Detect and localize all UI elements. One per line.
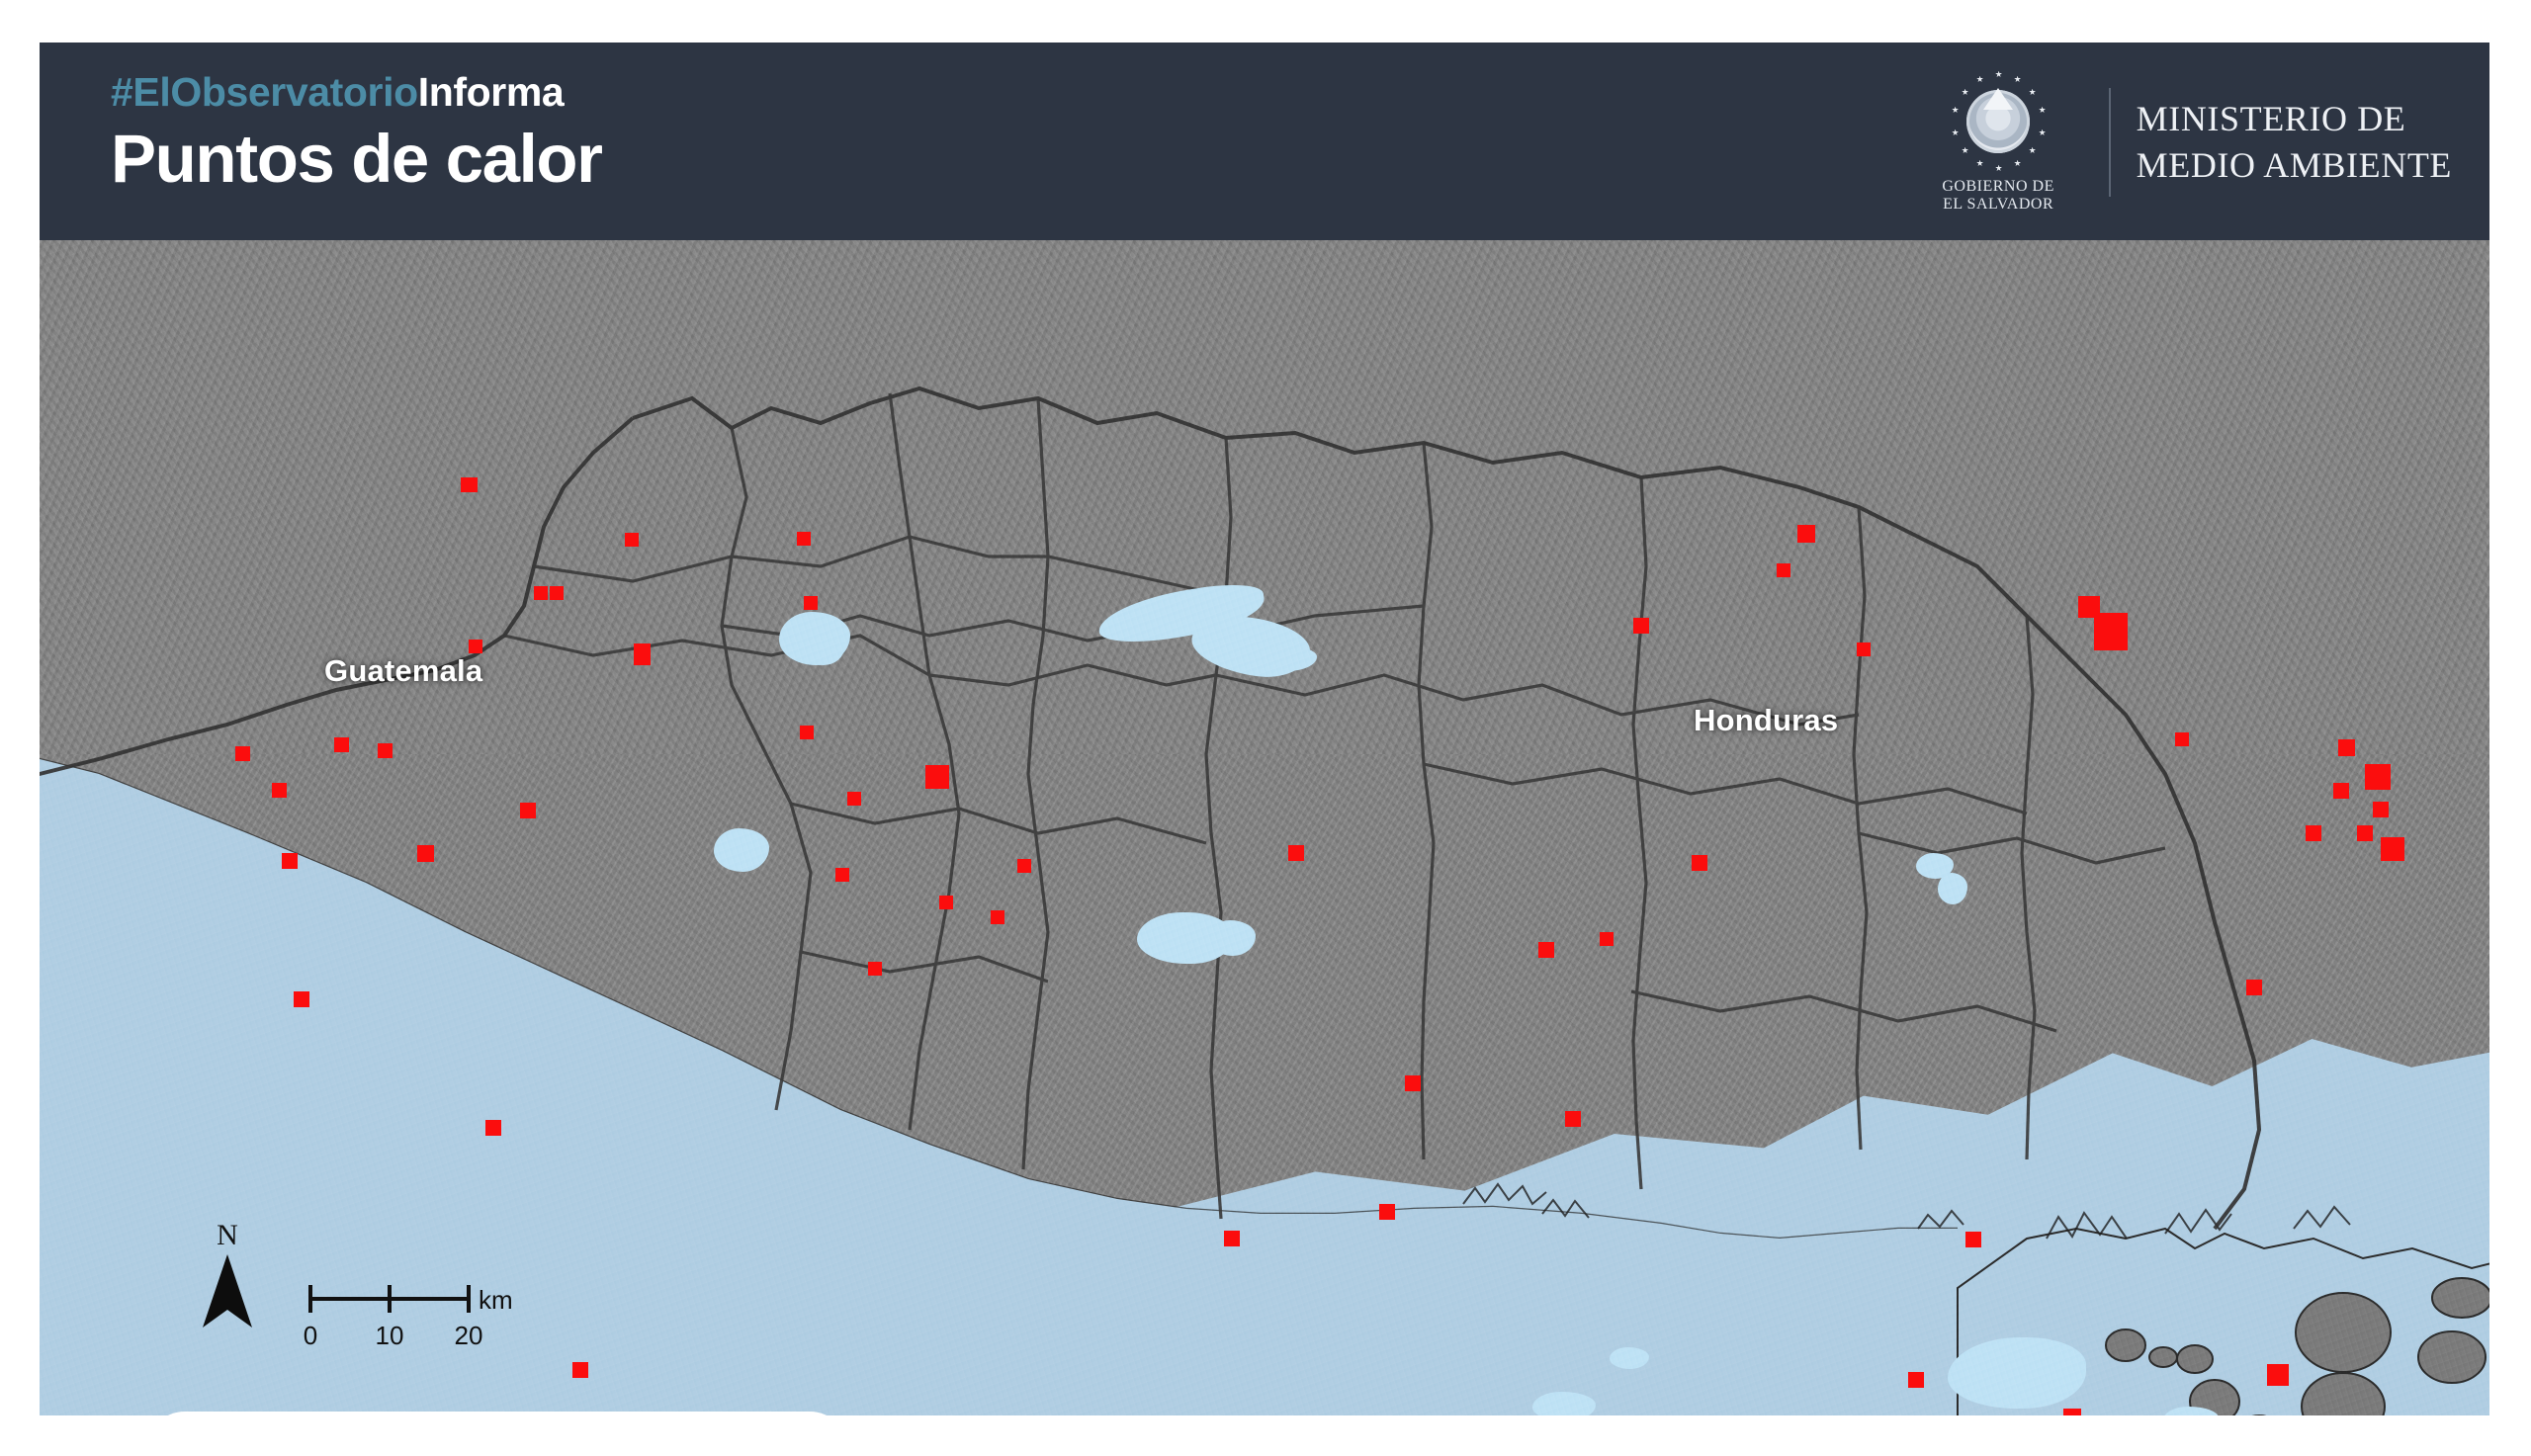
header-titles: #ElObservatorioInforma Puntos de calor (111, 72, 602, 193)
country-label-guatemala: Guatemala (324, 653, 482, 689)
page-title: Puntos de calor (111, 125, 602, 193)
hashtag-suffix: Informa (418, 69, 565, 115)
heat-point-marker (2381, 837, 2404, 861)
heat-point-marker (2306, 825, 2321, 841)
poster-header: #ElObservatorioInforma Puntos de calor (40, 43, 2489, 240)
heat-point-marker (835, 868, 849, 882)
heat-point-marker (991, 910, 1004, 924)
heat-point-marker (282, 853, 298, 869)
heat-point-marker (1965, 1232, 1981, 1247)
crest-caption-line2: EL SALVADOR (1942, 196, 2054, 214)
heat-point-marker (1908, 1372, 1924, 1388)
heat-point-marker (550, 586, 564, 600)
map-canvas[interactable]: Guatemala Honduras Océano Pacífico N km … (40, 240, 2489, 1415)
scale-bar: km 0 10 20 (308, 1283, 506, 1342)
heat-point-marker (804, 596, 818, 610)
crest-caption-line1: GOBIERNO DE (1942, 178, 2054, 196)
heat-point-marker (1405, 1075, 1421, 1091)
lake-small-center-2 (1532, 1392, 1596, 1415)
scale-tick-0: 0 (304, 1321, 317, 1351)
heat-point-marker (1600, 932, 1614, 946)
heat-point-marker (1565, 1111, 1581, 1127)
el-salvador-coat-of-arms-icon (1947, 70, 2050, 173)
heat-point-marker (2357, 825, 2373, 841)
heat-points-info-pill: Puntos de calor al dia 2022-04-16 a las … (146, 1412, 848, 1415)
hashtag-line: #ElObservatorioInforma (111, 72, 602, 113)
north-arrow-icon (201, 1254, 254, 1331)
north-label: N (217, 1219, 238, 1252)
heat-point-marker (868, 962, 882, 976)
heat-point-marker (520, 803, 536, 818)
ministry-name: MINISTERIO DE MEDIO AMBIENTE (2137, 96, 2452, 187)
heat-point-marker (2267, 1364, 2289, 1386)
heat-point-marker (469, 640, 482, 653)
heat-point-marker (1777, 563, 1790, 577)
heat-point-marker (1288, 845, 1304, 861)
heat-point-marker (2365, 764, 2391, 790)
heat-point-marker (625, 533, 639, 547)
heat-point-marker (235, 746, 250, 761)
heat-point-marker (2094, 613, 2128, 650)
heat-point-marker (847, 792, 861, 806)
heat-point-marker (2246, 980, 2262, 995)
poster-root: #ElObservatorioInforma Puntos de calor (0, 0, 2531, 1456)
header-logo-block: GOBIERNO DE EL SALVADOR MINISTERIO DE ME… (1892, 70, 2452, 214)
heat-point-marker (1797, 525, 1815, 543)
north-arrow: N (188, 1219, 267, 1337)
heat-point-marker (1224, 1231, 1240, 1246)
heat-point-marker (939, 896, 953, 909)
heat-point-marker (417, 845, 434, 862)
lake-embalse (1948, 1337, 2086, 1409)
heat-point-marker (634, 643, 651, 665)
heat-point-marker (2063, 1409, 2081, 1415)
heat-point-marker (572, 1362, 588, 1378)
heat-point-marker (294, 991, 309, 1007)
heat-point-marker (2175, 732, 2189, 746)
government-crest-block: GOBIERNO DE EL SALVADOR (1892, 70, 2105, 214)
heat-point-marker (1538, 942, 1554, 958)
country-label-honduras: Honduras (1694, 703, 1838, 738)
heat-point-marker (378, 743, 393, 758)
map-vector-overlay (40, 240, 2489, 1415)
heat-point-marker (2373, 802, 2389, 817)
hashtag-prefix: #ElObservatorio (111, 69, 418, 115)
scale-tick-20: 20 (455, 1321, 483, 1351)
heat-point-marker (461, 477, 478, 492)
heat-point-marker (2333, 783, 2349, 799)
heat-point-marker (272, 783, 287, 798)
scale-unit-label: km (479, 1285, 513, 1316)
heat-point-marker (800, 726, 814, 739)
ministry-line1: MINISTERIO DE (2137, 96, 2452, 141)
ministry-line2: MEDIO AMBIENTE (2137, 142, 2452, 188)
heat-point-marker (2338, 739, 2355, 756)
heat-point-marker (485, 1120, 501, 1136)
crest-triangle (1983, 88, 2013, 110)
crest-caption: GOBIERNO DE EL SALVADOR (1942, 178, 2054, 214)
heat-point-marker (334, 737, 349, 752)
heat-point-marker (797, 532, 811, 546)
scale-tick-10: 10 (376, 1321, 404, 1351)
heat-point-marker (925, 765, 949, 789)
heat-point-marker (1857, 642, 1871, 656)
heat-point-marker (534, 586, 548, 600)
heat-point-marker (1379, 1204, 1395, 1220)
heat-point-marker (1633, 618, 1649, 634)
heat-point-marker (1017, 859, 1031, 873)
heat-point-marker (1692, 855, 1707, 871)
logo-divider (2109, 88, 2111, 197)
